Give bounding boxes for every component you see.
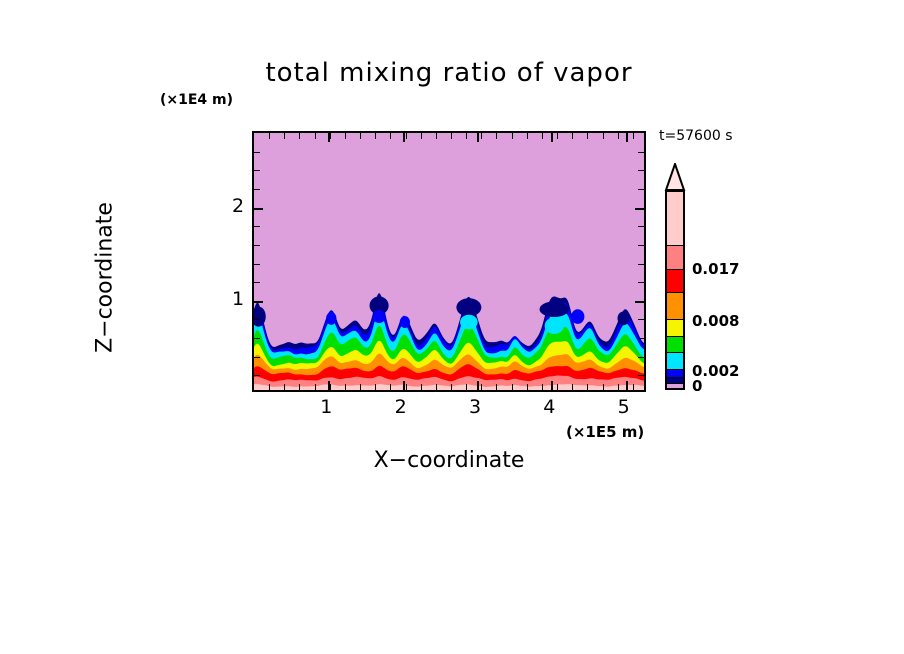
x-minor-tick — [542, 384, 543, 390]
plume-cap — [326, 312, 336, 325]
x-minor-tick-top — [421, 133, 422, 139]
x-minor-tick-top — [542, 133, 543, 139]
y-minor-tick-right — [638, 264, 644, 265]
x-minor-tick-top — [345, 133, 346, 139]
x-major-tick-top — [403, 133, 405, 142]
x-minor-tick — [633, 384, 634, 390]
colorbar-band — [667, 384, 683, 388]
y-minor-tick — [254, 264, 260, 265]
colorbar-band — [667, 337, 683, 353]
y-minor-tick-right — [638, 338, 644, 339]
y-minor-tick-right — [638, 170, 644, 171]
x-minor-tick — [527, 384, 528, 390]
colorbar-band — [667, 246, 683, 269]
x-minor-tick — [512, 384, 513, 390]
x-tick-label: 1 — [320, 396, 332, 418]
x-minor-tick-top — [284, 133, 285, 139]
x-minor-tick-top — [603, 133, 604, 139]
y-minor-tick — [254, 189, 260, 190]
x-minor-tick — [451, 384, 452, 390]
colorbar-tick-label: 0.017 — [692, 260, 739, 278]
y-minor-tick-right — [638, 245, 644, 246]
x-major-tick — [403, 381, 405, 390]
x-minor-tick — [421, 384, 422, 390]
plume-cap — [400, 316, 410, 328]
colorbar — [665, 190, 685, 390]
x-tick-label: 2 — [395, 396, 407, 418]
colorbar-band — [667, 293, 683, 320]
x-minor-tick-top — [451, 133, 452, 139]
x-minor-tick — [390, 384, 391, 390]
y-minor-tick-right — [638, 357, 644, 358]
y-axis-title: Z−coordinate — [93, 153, 118, 403]
x-minor-tick — [315, 384, 316, 390]
x-major-tick-top — [328, 133, 330, 142]
x-minor-tick-top — [360, 133, 361, 139]
contour-plot-area — [252, 131, 646, 392]
y-minor-tick — [254, 170, 260, 171]
y-minor-tick — [254, 226, 260, 227]
x-tick-label: 3 — [469, 396, 481, 418]
x-minor-tick — [360, 384, 361, 390]
plume-cap — [456, 298, 481, 316]
x-minor-tick-top — [572, 133, 573, 139]
y-tick-label: 1 — [232, 288, 244, 310]
y-major-tick — [254, 301, 263, 303]
x-minor-tick-top — [618, 133, 619, 139]
x-minor-tick — [557, 384, 558, 390]
x-minor-tick-top — [481, 133, 482, 139]
x-minor-tick-top — [315, 133, 316, 139]
colorbar-band — [667, 353, 683, 369]
x-major-tick — [328, 381, 330, 390]
y-minor-tick — [254, 375, 260, 376]
plume-cap — [460, 315, 478, 330]
x-minor-tick — [375, 384, 376, 390]
plume-cap — [571, 309, 584, 324]
y-major-tick — [254, 208, 263, 210]
x-minor-tick-top — [496, 133, 497, 139]
colorbar-band — [667, 320, 683, 336]
y-minor-tick — [254, 319, 260, 320]
x-minor-tick — [481, 384, 482, 390]
y-minor-tick — [254, 282, 260, 283]
x-major-tick — [626, 381, 628, 390]
x-minor-tick-top — [557, 133, 558, 139]
colorbar-arrow-tip — [663, 163, 687, 191]
plume-cap — [372, 310, 385, 323]
x-major-tick — [477, 381, 479, 390]
x-minor-tick — [587, 384, 588, 390]
figure-canvas: total mixing ratio of vapor (×1E4 m) t=5… — [0, 0, 904, 654]
y-major-tick-right — [635, 301, 644, 303]
x-minor-tick — [466, 384, 467, 390]
y-minor-tick-right — [638, 152, 644, 153]
page-title: total mixing ratio of vapor — [252, 58, 646, 88]
x-minor-tick-top — [512, 133, 513, 139]
x-minor-tick-top — [633, 133, 634, 139]
x-minor-tick — [618, 384, 619, 390]
x-major-tick-top — [551, 133, 553, 142]
x-minor-tick — [269, 384, 270, 390]
x-minor-tick — [496, 384, 497, 390]
plume-cap — [545, 317, 564, 334]
y-major-tick-right — [635, 208, 644, 210]
y-minor-tick — [254, 152, 260, 153]
y-minor-tick — [254, 245, 260, 246]
y-minor-tick-right — [638, 226, 644, 227]
colorbar-band — [667, 192, 683, 246]
y-minor-tick-right — [638, 189, 644, 190]
x-minor-tick — [299, 384, 300, 390]
colorbar-band — [667, 270, 683, 293]
colorbar-tick-label: 0 — [692, 377, 702, 395]
x-minor-tick — [345, 384, 346, 390]
colorbar-band — [667, 370, 683, 379]
x-minor-tick — [572, 384, 573, 390]
x-axis-unit-label: (×1E5 m) — [566, 423, 644, 441]
x-minor-tick-top — [299, 133, 300, 139]
x-major-tick-top — [626, 133, 628, 142]
x-tick-label: 4 — [543, 396, 555, 418]
y-minor-tick-right — [638, 282, 644, 283]
x-minor-tick-top — [527, 133, 528, 139]
x-axis-title: X−coordinate — [252, 448, 646, 473]
x-minor-tick — [284, 384, 285, 390]
x-minor-tick-top — [587, 133, 588, 139]
x-minor-tick-top — [269, 133, 270, 139]
y-minor-tick — [254, 338, 260, 339]
y-minor-tick — [254, 357, 260, 358]
x-minor-tick-top — [390, 133, 391, 139]
y-tick-label: 2 — [232, 195, 244, 217]
x-minor-tick-top — [375, 133, 376, 139]
y-minor-tick-right — [638, 375, 644, 376]
x-minor-tick — [436, 384, 437, 390]
x-minor-tick — [603, 384, 604, 390]
x-minor-tick-top — [466, 133, 467, 139]
y-minor-tick-right — [638, 319, 644, 320]
x-minor-tick-top — [436, 133, 437, 139]
contour-field — [254, 133, 644, 390]
x-major-tick-top — [477, 133, 479, 142]
x-minor-tick-top — [406, 133, 407, 139]
timestamp-label: t=57600 s — [659, 128, 733, 144]
plume-cap — [618, 312, 630, 326]
plume-cap — [540, 301, 569, 317]
x-tick-label: 5 — [618, 396, 630, 418]
colorbar-tick-label: 0.008 — [692, 312, 739, 330]
x-minor-tick — [406, 384, 407, 390]
x-major-tick — [551, 381, 553, 390]
z-axis-unit-label: (×1E4 m) — [160, 92, 233, 108]
